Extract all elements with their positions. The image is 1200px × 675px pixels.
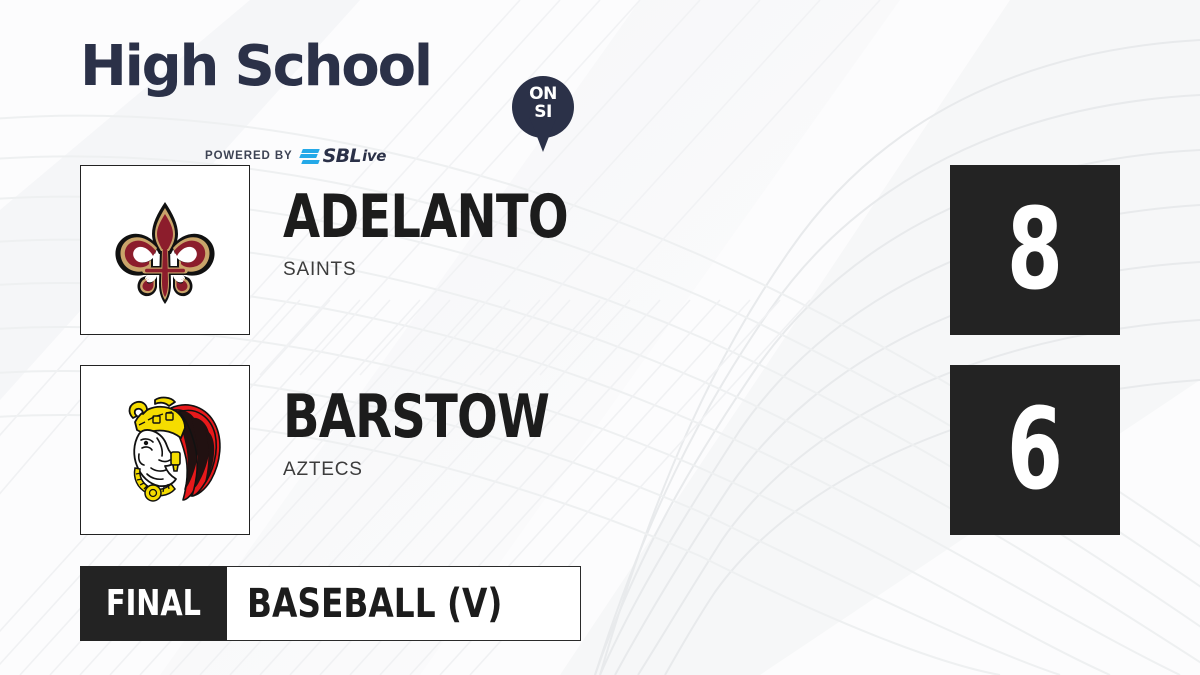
team-score: 8 (1007, 194, 1063, 306)
fleur-de-lis-logo (99, 184, 231, 316)
aztec-warrior-logo (95, 380, 235, 520)
team-mascot: AZTECS (283, 459, 843, 481)
team-info: BARSTOW AZTECS (283, 385, 843, 481)
brand-lockup: High School ON SI POWERED BY SBL ive (80, 36, 520, 136)
status-badge: FINAL (80, 566, 227, 641)
powered-by-label: POWERED BY (205, 150, 293, 162)
team-logo-box (80, 365, 250, 535)
sblive-logo: SBL ive (300, 145, 386, 167)
team-score: 6 (1007, 394, 1063, 506)
map-pin-label: ON SI (512, 85, 574, 121)
sport-label-panel: BASEBALL (V) (227, 566, 581, 641)
sblive-s-icon (300, 148, 320, 165)
sport-label: BASEBALL (V) (247, 581, 502, 627)
map-pin-icon: ON SI (512, 76, 574, 154)
brand-wordmark: High School (80, 36, 431, 98)
team-name: ADELANTO (283, 185, 731, 249)
team-name: BARSTOW (283, 385, 731, 449)
sblive-name-light: ive (362, 147, 386, 165)
status-badge-label: FINAL (106, 583, 201, 624)
team-row: ADELANTO SAINTS 8 (80, 165, 1120, 335)
sblive-name-bold: SBL (323, 145, 361, 167)
team-score-box: 6 (950, 365, 1120, 535)
team-mascot: SAINTS (283, 259, 843, 281)
team-info: ADELANTO SAINTS (283, 185, 843, 281)
powered-by-lockup: POWERED BY SBL ive (205, 145, 386, 167)
map-pin-line2: SI (512, 103, 574, 121)
team-logo-box (80, 165, 250, 335)
game-status-bar: FINAL BASEBALL (V) (80, 566, 581, 641)
map-pin-line1: ON (512, 85, 574, 103)
team-row: BARSTOW AZTECS 6 (80, 365, 1120, 535)
team-score-box: 8 (950, 165, 1120, 335)
